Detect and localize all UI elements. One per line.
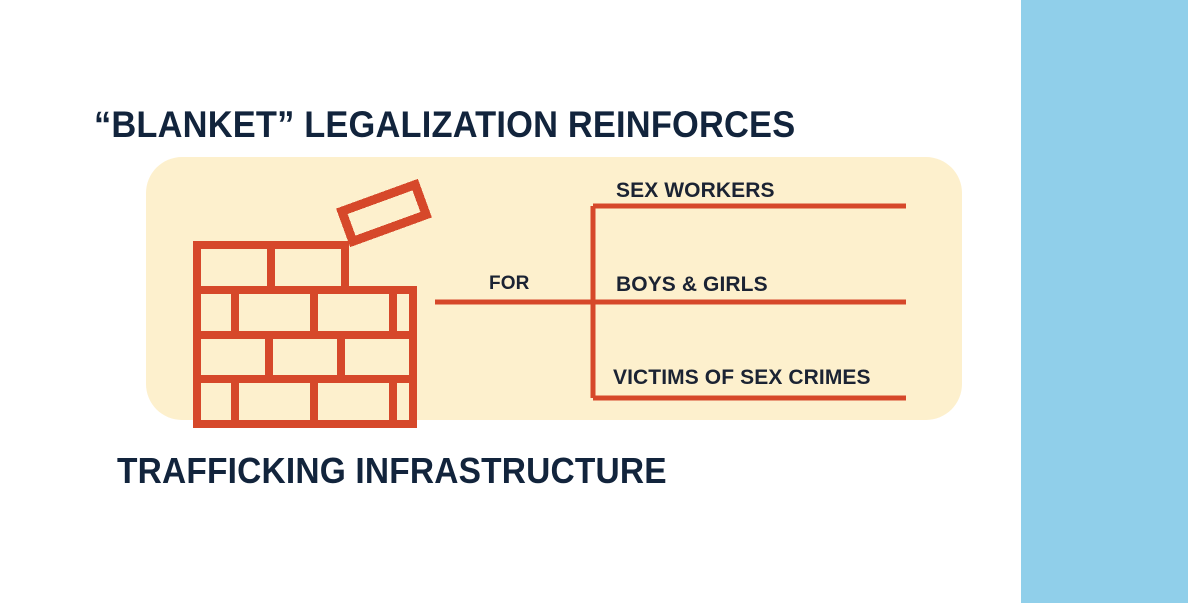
slide-canvas: “BLANKET” LEGALIZATION REINFORCES bbox=[0, 0, 1188, 603]
brick-wall-icon bbox=[193, 180, 423, 400]
slide-title-bottom: TRAFFICKING INFRASTRUCTURE bbox=[117, 450, 667, 492]
bracket-stem-label: FOR bbox=[489, 273, 529, 295]
accent-panel bbox=[1021, 0, 1188, 603]
bracket-branch-label-sex-workers: SEX WORKERS bbox=[616, 179, 775, 203]
slide-title-top: “BLANKET” LEGALIZATION REINFORCES bbox=[94, 104, 795, 146]
bracket-branch-label-boys-girls: BOYS & GIRLS bbox=[616, 273, 768, 297]
bracket-branch-label-victims: VICTIMS OF SEX CRIMES bbox=[613, 366, 871, 390]
